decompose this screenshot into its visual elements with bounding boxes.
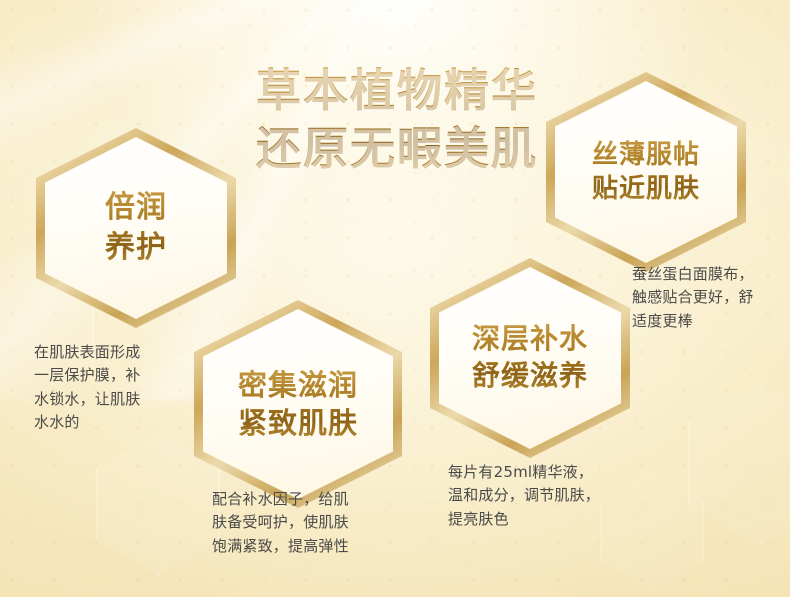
caption-line: 每片有25ml精华液， [448,461,663,484]
caption-beirun: 在肌肤表面形成 一层保护膜，补 水锁水，让肌肤 水水的 [34,341,219,434]
hexagon-face: 深层补水 舒缓滋养 [439,267,621,449]
caption-line: 水锁水，让肌肤 [34,388,219,411]
hexagon-frame: 倍润 养护 [36,128,236,328]
page-title: 草本植物精华 还原无暇美肌 [222,62,572,177]
hexagon-face: 密集滋润 紧致肌肤 [203,309,393,499]
caption-line: 一层保护膜，补 [34,364,219,387]
caption-line: 触感贴合更好，舒 [632,286,790,309]
badge-line-2: 舒缓滋养 [472,358,588,395]
badge-shenceng: 深层补水 舒缓滋养 [430,258,630,458]
badge-line-2: 养护 [105,228,167,268]
caption-line: 蚕丝蛋白面膜布， [632,263,790,286]
badge-beirun: 倍润 养护 [36,128,236,328]
badge-miji: 密集滋润 紧致肌肤 [194,300,402,508]
hexagon-face: 倍润 养护 [45,137,227,319]
badge-miji-label: 密集滋润 紧致肌肤 [238,366,358,443]
caption-line: 配合补水因子，给肌 [212,488,422,511]
caption-line: 提亮肤色 [448,508,663,531]
caption-line: 饱满紧致，提高弹性 [212,535,422,558]
caption-miji: 配合补水因子，给肌 肤备受呵护，使肌肤 饱满紧致，提高弹性 [212,488,422,558]
poster-background: 草本植物精华 还原无暇美肌 倍润 养护 丝薄服帖 贴近肌肤 [0,0,790,597]
caption-line: 水水的 [34,411,219,434]
caption-line: 温和成分，调节肌肤， [448,484,663,507]
caption-line: 肤备受呵护，使肌肤 [212,511,422,534]
badge-beirun-label: 倍润 养护 [105,188,167,267]
badge-shenceng-label: 深层补水 舒缓滋养 [472,321,588,395]
hexagon-frame: 密集滋润 紧致肌肤 [194,300,402,508]
badge-line-1: 深层补水 [472,321,588,358]
hexagon-face: 丝薄服帖 贴近肌肤 [555,81,737,263]
page-title-line-1: 草本植物精华 [222,62,572,120]
page-title-line-2: 还原无暇美肌 [222,120,572,178]
badge-line-1: 丝薄服帖 [592,138,700,172]
badge-line-2: 贴近肌肤 [592,172,700,206]
badge-sibao: 丝薄服帖 贴近肌肤 [546,72,746,272]
badge-sibao-label: 丝薄服帖 贴近肌肤 [592,138,700,207]
caption-line: 适度更棒 [632,310,790,333]
hexagon-frame: 丝薄服帖 贴近肌肤 [546,72,746,272]
caption-shenceng: 每片有25ml精华液， 温和成分，调节肌肤， 提亮肤色 [448,461,663,531]
caption-line: 在肌肤表面形成 [34,341,219,364]
caption-sibao: 蚕丝蛋白面膜布， 触感贴合更好，舒 适度更棒 [632,263,790,333]
badge-line-1: 密集滋润 [238,366,358,404]
badge-line-1: 倍润 [105,188,167,228]
badge-line-2: 紧致肌肤 [238,404,358,442]
hexagon-frame: 深层补水 舒缓滋养 [430,258,630,458]
